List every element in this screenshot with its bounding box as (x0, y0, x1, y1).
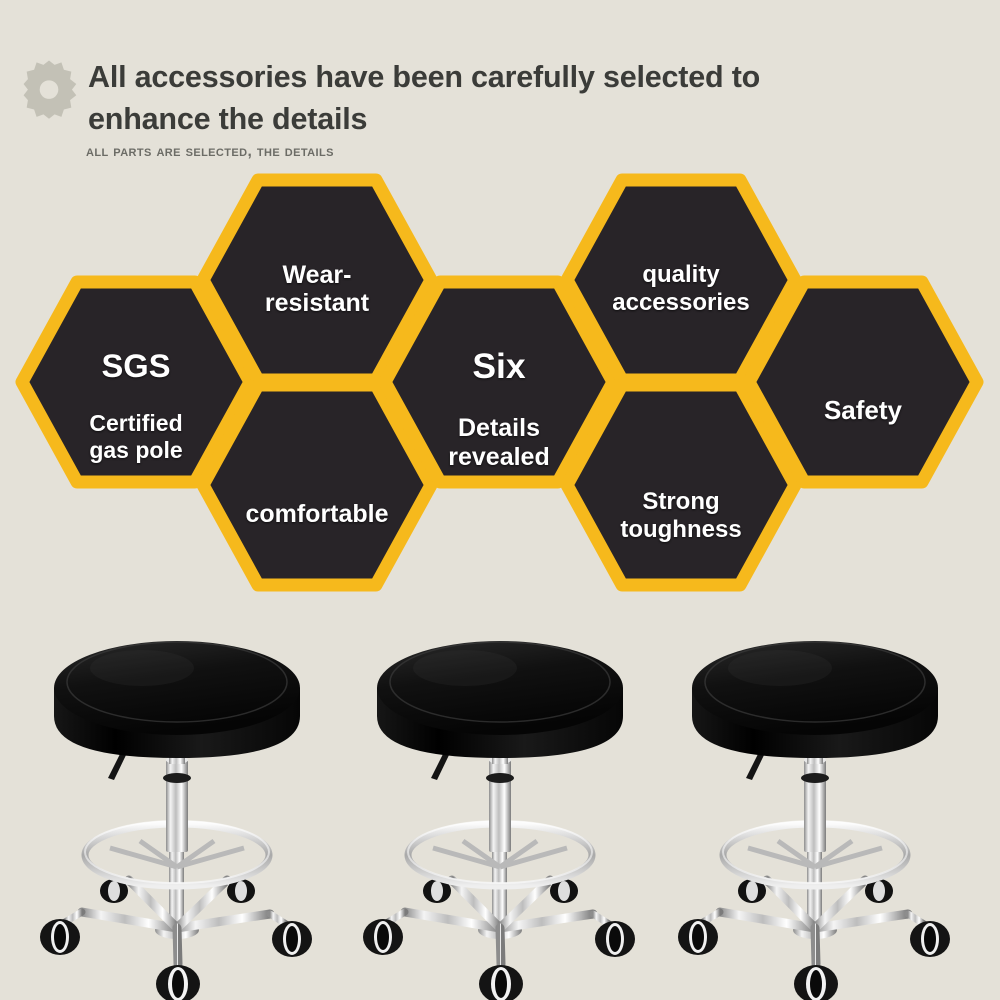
page-subtitle: All parts are selected, the details (86, 143, 334, 161)
hex-cell-safety[interactable]: Safety (745, 278, 981, 486)
product-gallery (0, 612, 1000, 1000)
header-section: All accessories have been carefully sele… (0, 0, 1000, 175)
gear-icon (18, 58, 80, 120)
product-infographic-page: All accessories have been carefully sele… (0, 0, 1000, 1000)
honeycomb-feature-cluster: SGS Certified gas pole Wear- resistant c… (0, 168, 1000, 608)
product-image-stool-2 (345, 612, 665, 1000)
product-image-stool-3 (660, 612, 980, 1000)
page-title: All accessories have been carefully sele… (88, 56, 918, 140)
product-image-stool-1 (22, 612, 342, 1000)
